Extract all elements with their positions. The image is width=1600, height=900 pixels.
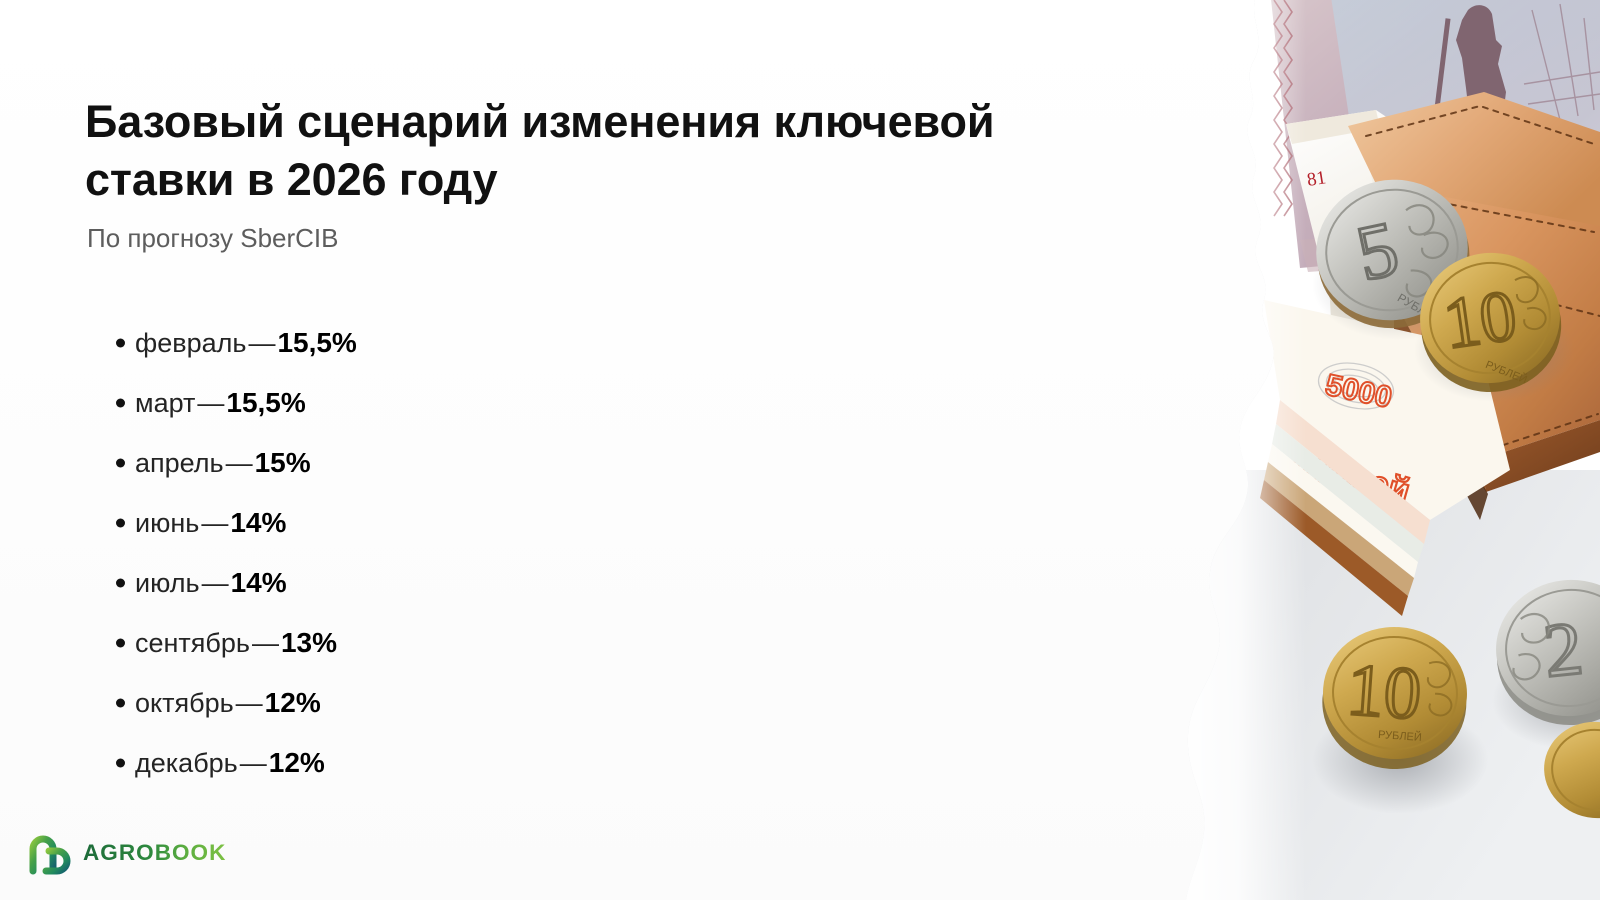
rate-value: 14% bbox=[231, 567, 287, 599]
svg-text:РУБЛЕЙ: РУБЛЕЙ bbox=[1378, 728, 1423, 744]
page-subtitle: По прогнозу SberCIB bbox=[87, 221, 339, 255]
bullet-icon bbox=[116, 459, 125, 468]
rate-value: 14% bbox=[230, 507, 286, 539]
bullet-icon bbox=[116, 639, 125, 648]
svg-text:10: 10 bbox=[1344, 649, 1424, 736]
rate-separator: — bbox=[246, 328, 277, 359]
bullet-icon bbox=[116, 339, 125, 348]
svg-text:5: 5 bbox=[1349, 204, 1405, 297]
rate-month: март bbox=[135, 388, 195, 419]
rate-separator: — bbox=[234, 688, 265, 719]
list-item: июнь — 14% bbox=[85, 493, 985, 553]
svg-text:2: 2 bbox=[1540, 606, 1587, 694]
bullet-icon bbox=[116, 699, 125, 708]
slide-root: 81 bbox=[0, 0, 1600, 900]
agrobook-logo[interactable]: AGROBOOK bbox=[24, 826, 248, 878]
rate-month: декабрь bbox=[135, 748, 238, 779]
bullet-icon bbox=[116, 759, 125, 768]
svg-text:81: 81 bbox=[1305, 167, 1327, 191]
agrobook-wordmark: AGROBOOK bbox=[83, 839, 248, 865]
rate-value: 15% bbox=[255, 447, 311, 479]
content-column: Базовый сценарий изменения ключевой став… bbox=[85, 0, 1145, 900]
rate-month: июнь bbox=[135, 508, 199, 539]
bullet-icon bbox=[116, 519, 125, 528]
svg-text:РУБЛЕЙ: РУБЛЕЙ bbox=[1484, 358, 1529, 386]
bullet-icon bbox=[116, 579, 125, 588]
list-item: июль — 14% bbox=[85, 553, 985, 613]
rate-separator: — bbox=[195, 388, 226, 419]
list-item: март — 15,5% bbox=[85, 373, 985, 433]
page-title: Базовый сценарий изменения ключевой став… bbox=[85, 93, 1095, 209]
rate-value: 15,5% bbox=[277, 327, 356, 359]
rate-value: 15,5% bbox=[226, 387, 305, 419]
rate-separator: — bbox=[224, 448, 255, 479]
rate-separator: — bbox=[250, 628, 281, 659]
rate-month: октябрь bbox=[135, 688, 234, 719]
list-item: сентябрь — 13% bbox=[85, 613, 985, 673]
list-item: октябрь — 12% bbox=[85, 673, 985, 733]
rate-value: 12% bbox=[269, 747, 325, 779]
agrobook-mark-icon bbox=[24, 827, 74, 877]
rate-month: февраль bbox=[135, 328, 246, 359]
bullet-icon bbox=[116, 399, 125, 408]
svg-text:рублей: рублей bbox=[1288, 441, 1414, 511]
rate-month: апрель bbox=[135, 448, 224, 479]
svg-text:РУБЛЕЙ: РУБЛЕЙ bbox=[1395, 290, 1444, 327]
rate-separator: — bbox=[238, 748, 269, 779]
rate-month: июль bbox=[135, 568, 200, 599]
ruble-photo: 81 bbox=[1180, 0, 1600, 900]
list-item: апрель — 15% bbox=[85, 433, 985, 493]
svg-text:5000: 5000 bbox=[1323, 369, 1395, 415]
list-item: февраль — 15,5% bbox=[85, 313, 985, 373]
rate-value: 12% bbox=[265, 687, 321, 719]
rate-month: сентябрь bbox=[135, 628, 250, 659]
list-item: декабрь — 12% bbox=[85, 733, 985, 793]
rate-list: февраль — 15,5% март — 15,5% апрель — 15… bbox=[85, 313, 985, 793]
rate-value: 13% bbox=[281, 627, 337, 659]
rate-separator: — bbox=[200, 568, 231, 599]
svg-text:AGROBOOK: AGROBOOK bbox=[83, 840, 226, 865]
rate-separator: — bbox=[199, 508, 230, 539]
svg-text:10: 10 bbox=[1439, 275, 1521, 364]
